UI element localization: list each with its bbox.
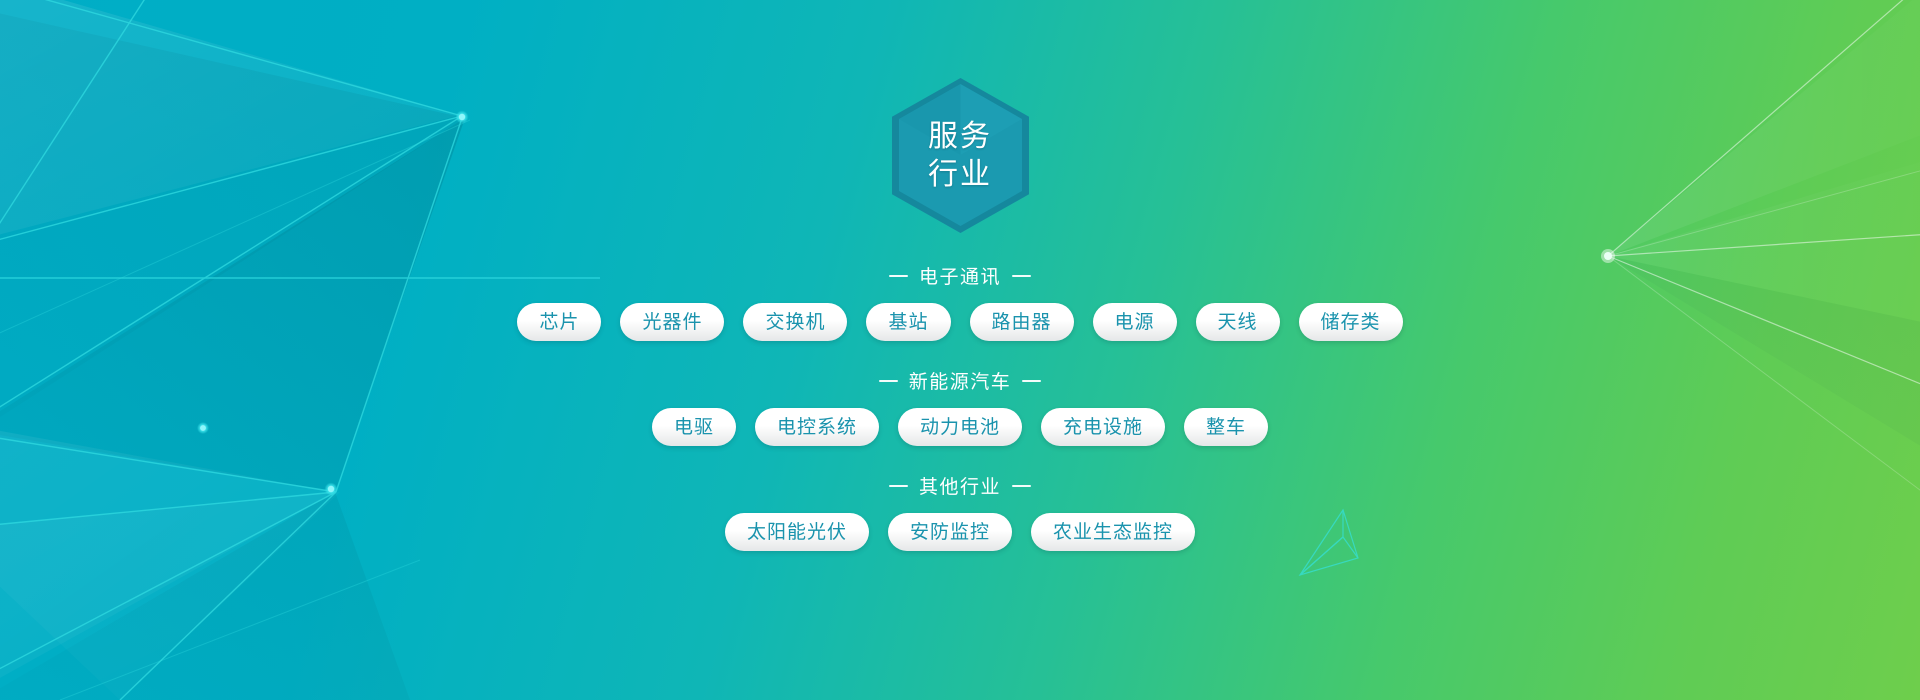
- badge-line-1: 服务: [928, 118, 992, 156]
- tag-pill[interactable]: 路由器: [970, 303, 1074, 341]
- tag-pill[interactable]: 储存类: [1299, 303, 1403, 341]
- section-new-energy-vehicle: 新能源汽车 电驱 电控系统 动力电池 充电设施 整车: [0, 367, 1920, 446]
- tag-pill[interactable]: 安防监控: [888, 513, 1012, 551]
- tag-pill[interactable]: 电控系统: [755, 408, 879, 446]
- service-industry-badge: 服务 行业: [892, 78, 1029, 233]
- section-other-industries: 其他行业 太阳能光伏 安防监控 农业生态监控: [0, 472, 1920, 551]
- dash-right-icon: [1022, 380, 1041, 382]
- badge-text: 服务 行业: [928, 118, 992, 194]
- tag-pill[interactable]: 电驱: [652, 408, 736, 446]
- tag-pill[interactable]: 光器件: [620, 303, 724, 341]
- tag-list-new-energy-vehicle: 电驱 电控系统 动力电池 充电设施 整车: [652, 408, 1268, 446]
- section-heading-label: 新能源汽车: [909, 367, 1012, 394]
- tag-pill[interactable]: 整车: [1184, 408, 1268, 446]
- tag-pill[interactable]: 交换机: [743, 303, 847, 341]
- tag-pill[interactable]: 芯片: [517, 303, 601, 341]
- banner-content: 服务 行业 电子通讯 芯片 光器件 交换机 基站 路由器 电源 天线 储存类: [0, 0, 1920, 700]
- section-heading: 其他行业: [889, 472, 1031, 499]
- badge-line-2: 行业: [928, 156, 992, 194]
- service-industry-banner: 服务 行业 电子通讯 芯片 光器件 交换机 基站 路由器 电源 天线 储存类: [0, 0, 1920, 700]
- tag-pill[interactable]: 基站: [866, 303, 950, 341]
- section-heading: 电子通讯: [889, 262, 1031, 289]
- tag-pill[interactable]: 农业生态监控: [1031, 513, 1195, 551]
- dash-left-icon: [879, 380, 898, 382]
- section-heading-label: 电子通讯: [919, 262, 1001, 289]
- dash-right-icon: [1012, 275, 1031, 277]
- section-heading-label: 其他行业: [919, 472, 1001, 499]
- tag-list-other-industries: 太阳能光伏 安防监控 农业生态监控: [725, 513, 1195, 551]
- tag-pill[interactable]: 天线: [1196, 303, 1280, 341]
- section-electronics-communication: 电子通讯 芯片 光器件 交换机 基站 路由器 电源 天线 储存类: [0, 262, 1920, 341]
- tag-pill[interactable]: 电源: [1093, 303, 1177, 341]
- tag-pill[interactable]: 动力电池: [898, 408, 1022, 446]
- dash-right-icon: [1012, 485, 1031, 487]
- tag-pill[interactable]: 太阳能光伏: [725, 513, 869, 551]
- section-heading: 新能源汽车: [879, 367, 1042, 394]
- dash-left-icon: [889, 275, 908, 277]
- dash-left-icon: [889, 485, 908, 487]
- tag-pill[interactable]: 充电设施: [1041, 408, 1165, 446]
- tag-list-electronics-communication: 芯片 光器件 交换机 基站 路由器 电源 天线 储存类: [517, 303, 1402, 341]
